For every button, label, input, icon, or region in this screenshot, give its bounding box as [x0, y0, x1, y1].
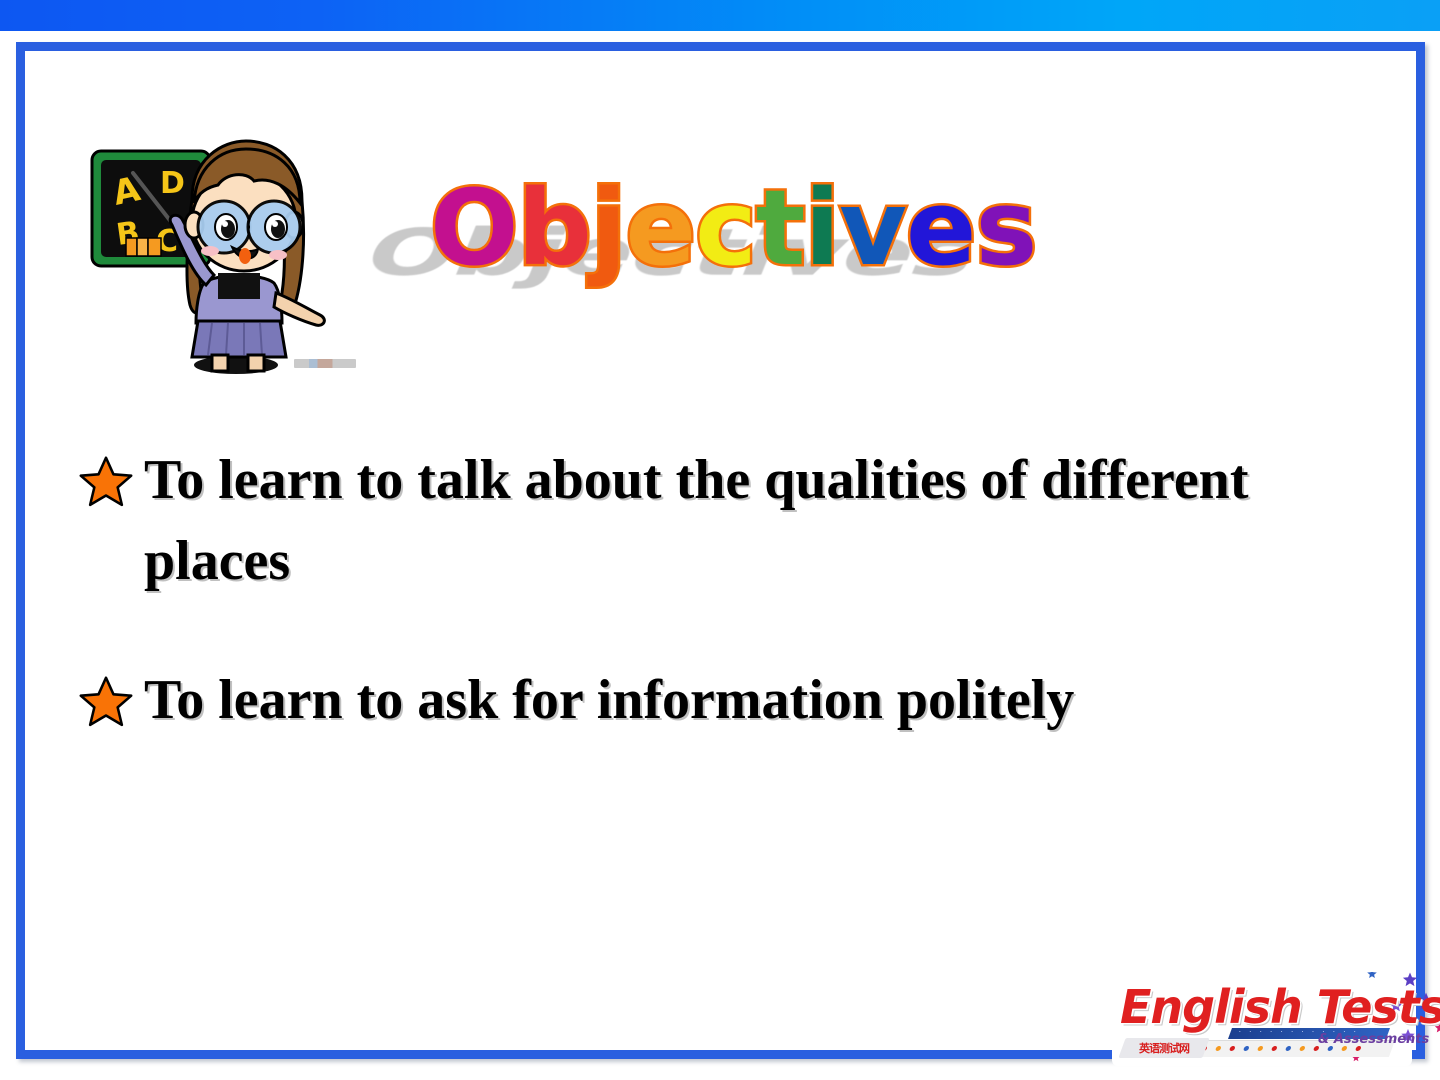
logo-title: English Tests [1120, 984, 1440, 1030]
logo-badge-text: 英语测试网 [1139, 1040, 1189, 1056]
logo-subtitle: & Assessments [1318, 1032, 1429, 1047]
title-letter: c [695, 176, 756, 280]
title-letter: e [626, 176, 696, 280]
teacher-illustration: A B D C [86, 133, 371, 383]
title-letter: s [975, 176, 1036, 280]
logo-dot [1243, 1046, 1250, 1051]
list-item-label: To learn to ask for information politely [144, 660, 1074, 741]
books-icon [126, 238, 161, 256]
list-item-label: To learn to talk about the qualities of … [144, 440, 1264, 602]
svg-text:D: D [160, 166, 185, 201]
title-letter: i [804, 176, 839, 280]
logo-star-icon [1367, 972, 1377, 978]
logo-dot [1299, 1046, 1306, 1051]
english-tests-logo: · · · · · · · · · · · · English Tests & … [1112, 978, 1430, 1074]
title-wordart: Objectives [430, 176, 1036, 280]
title-letter: t [756, 176, 805, 280]
illustration-watermark [294, 359, 356, 368]
logo-badge: 英语测试网 [1118, 1038, 1209, 1058]
logo-dot [1257, 1046, 1264, 1051]
logo-dot [1285, 1046, 1292, 1051]
title-letter: e [906, 176, 976, 280]
title-letter: b [517, 176, 590, 280]
logo-dot [1215, 1046, 1222, 1051]
top-gradient-bar [0, 0, 1440, 31]
objectives-list: To learn to talk about the qualities of … [78, 440, 1328, 800]
title-letter: v [839, 176, 906, 280]
list-item: To learn to ask for information politely [78, 660, 1328, 741]
slide-title: Objectives Objectives [430, 176, 990, 346]
teacher-illustration-svg: A B D C [86, 133, 371, 383]
logo-dot [1271, 1046, 1278, 1051]
title-letter: j [591, 176, 626, 280]
logo-dot [1229, 1046, 1236, 1051]
title-letter: O [430, 176, 517, 280]
list-item: To learn to talk about the qualities of … [78, 440, 1328, 602]
star-bullet-icon [78, 454, 134, 510]
star-bullet-icon [78, 674, 134, 730]
